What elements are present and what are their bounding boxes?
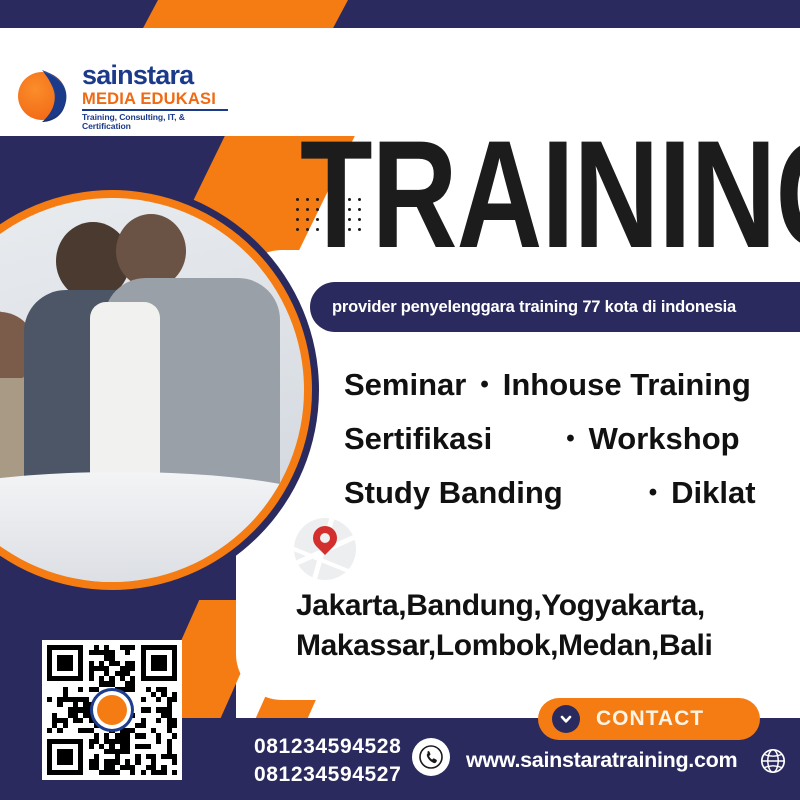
- service-row-3: Study Banding • Diklat: [344, 466, 792, 520]
- logo-subtitle: MEDIA EDUKASI: [82, 91, 228, 108]
- cities-line-1: Jakarta,Bandung,Yogyakarta,: [296, 586, 796, 626]
- logo-mark-icon: [18, 68, 74, 124]
- dot-grid-decoration: [296, 198, 360, 248]
- service-study-banding: Study Banding: [344, 475, 563, 511]
- phone-numbers[interactable]: 081234594528 081234594527: [254, 733, 401, 788]
- dot-grid-column-left: [296, 198, 320, 248]
- dot-grid-column-right: [338, 198, 362, 248]
- service-seminar: Seminar: [344, 367, 466, 403]
- map-pin-icon: [294, 518, 356, 580]
- bullet-icon-3: •: [649, 481, 657, 505]
- services-list: Seminar • Inhouse Training Sertifikasi •…: [344, 358, 792, 520]
- page-title: TRAINING: [300, 124, 800, 265]
- poster: TRAINING provider penyelenggara training…: [0, 0, 800, 800]
- qr-code[interactable]: [42, 640, 182, 780]
- subtitle-bar: provider penyelenggara training 77 kota …: [310, 282, 800, 332]
- brand-logo: sainstara MEDIA EDUKASI Training, Consul…: [18, 62, 228, 130]
- bullet-icon-2: •: [566, 427, 574, 451]
- contact-button[interactable]: CONTACT: [538, 698, 760, 740]
- logo-tagline: Training, Consulting, IT, & Certificatio…: [82, 113, 228, 130]
- service-diklat: Diklat: [671, 475, 755, 511]
- chevron-down-icon: [552, 705, 580, 733]
- conference-table: [0, 472, 304, 582]
- service-inhouse-training: Inhouse Training: [503, 367, 751, 403]
- logo-divider: [82, 109, 228, 111]
- service-sertifikasi: Sertifikasi: [344, 421, 492, 457]
- service-row-2: Sertifikasi • Workshop: [344, 412, 792, 466]
- location-pin-glyph: [308, 521, 342, 555]
- website-url[interactable]: www.sainstaratraining.com: [466, 748, 737, 773]
- person-head-4: [116, 214, 186, 288]
- cities-list: Jakarta,Bandung,Yogyakarta, Makassar,Lom…: [296, 586, 796, 665]
- qr-center-logo: [97, 695, 127, 725]
- phone-number-2[interactable]: 081234594527: [254, 761, 401, 789]
- subtitle-text: provider penyelenggara training 77 kota …: [332, 298, 736, 317]
- logo-name: sainstara: [82, 62, 228, 89]
- person-shirt: [90, 302, 160, 492]
- phone-number-1[interactable]: 081234594528: [254, 733, 401, 761]
- bullet-icon-1: •: [480, 373, 488, 397]
- service-workshop: Workshop: [589, 421, 740, 457]
- phone-icon: [412, 738, 450, 776]
- globe-icon: [760, 748, 786, 774]
- logo-text: sainstara MEDIA EDUKASI Training, Consul…: [82, 62, 228, 130]
- service-row-1: Seminar • Inhouse Training: [344, 358, 792, 412]
- cities-line-2: Makassar,Lombok,Medan,Bali: [296, 626, 796, 666]
- team-photo: [0, 198, 304, 582]
- contact-button-label: CONTACT: [596, 707, 704, 731]
